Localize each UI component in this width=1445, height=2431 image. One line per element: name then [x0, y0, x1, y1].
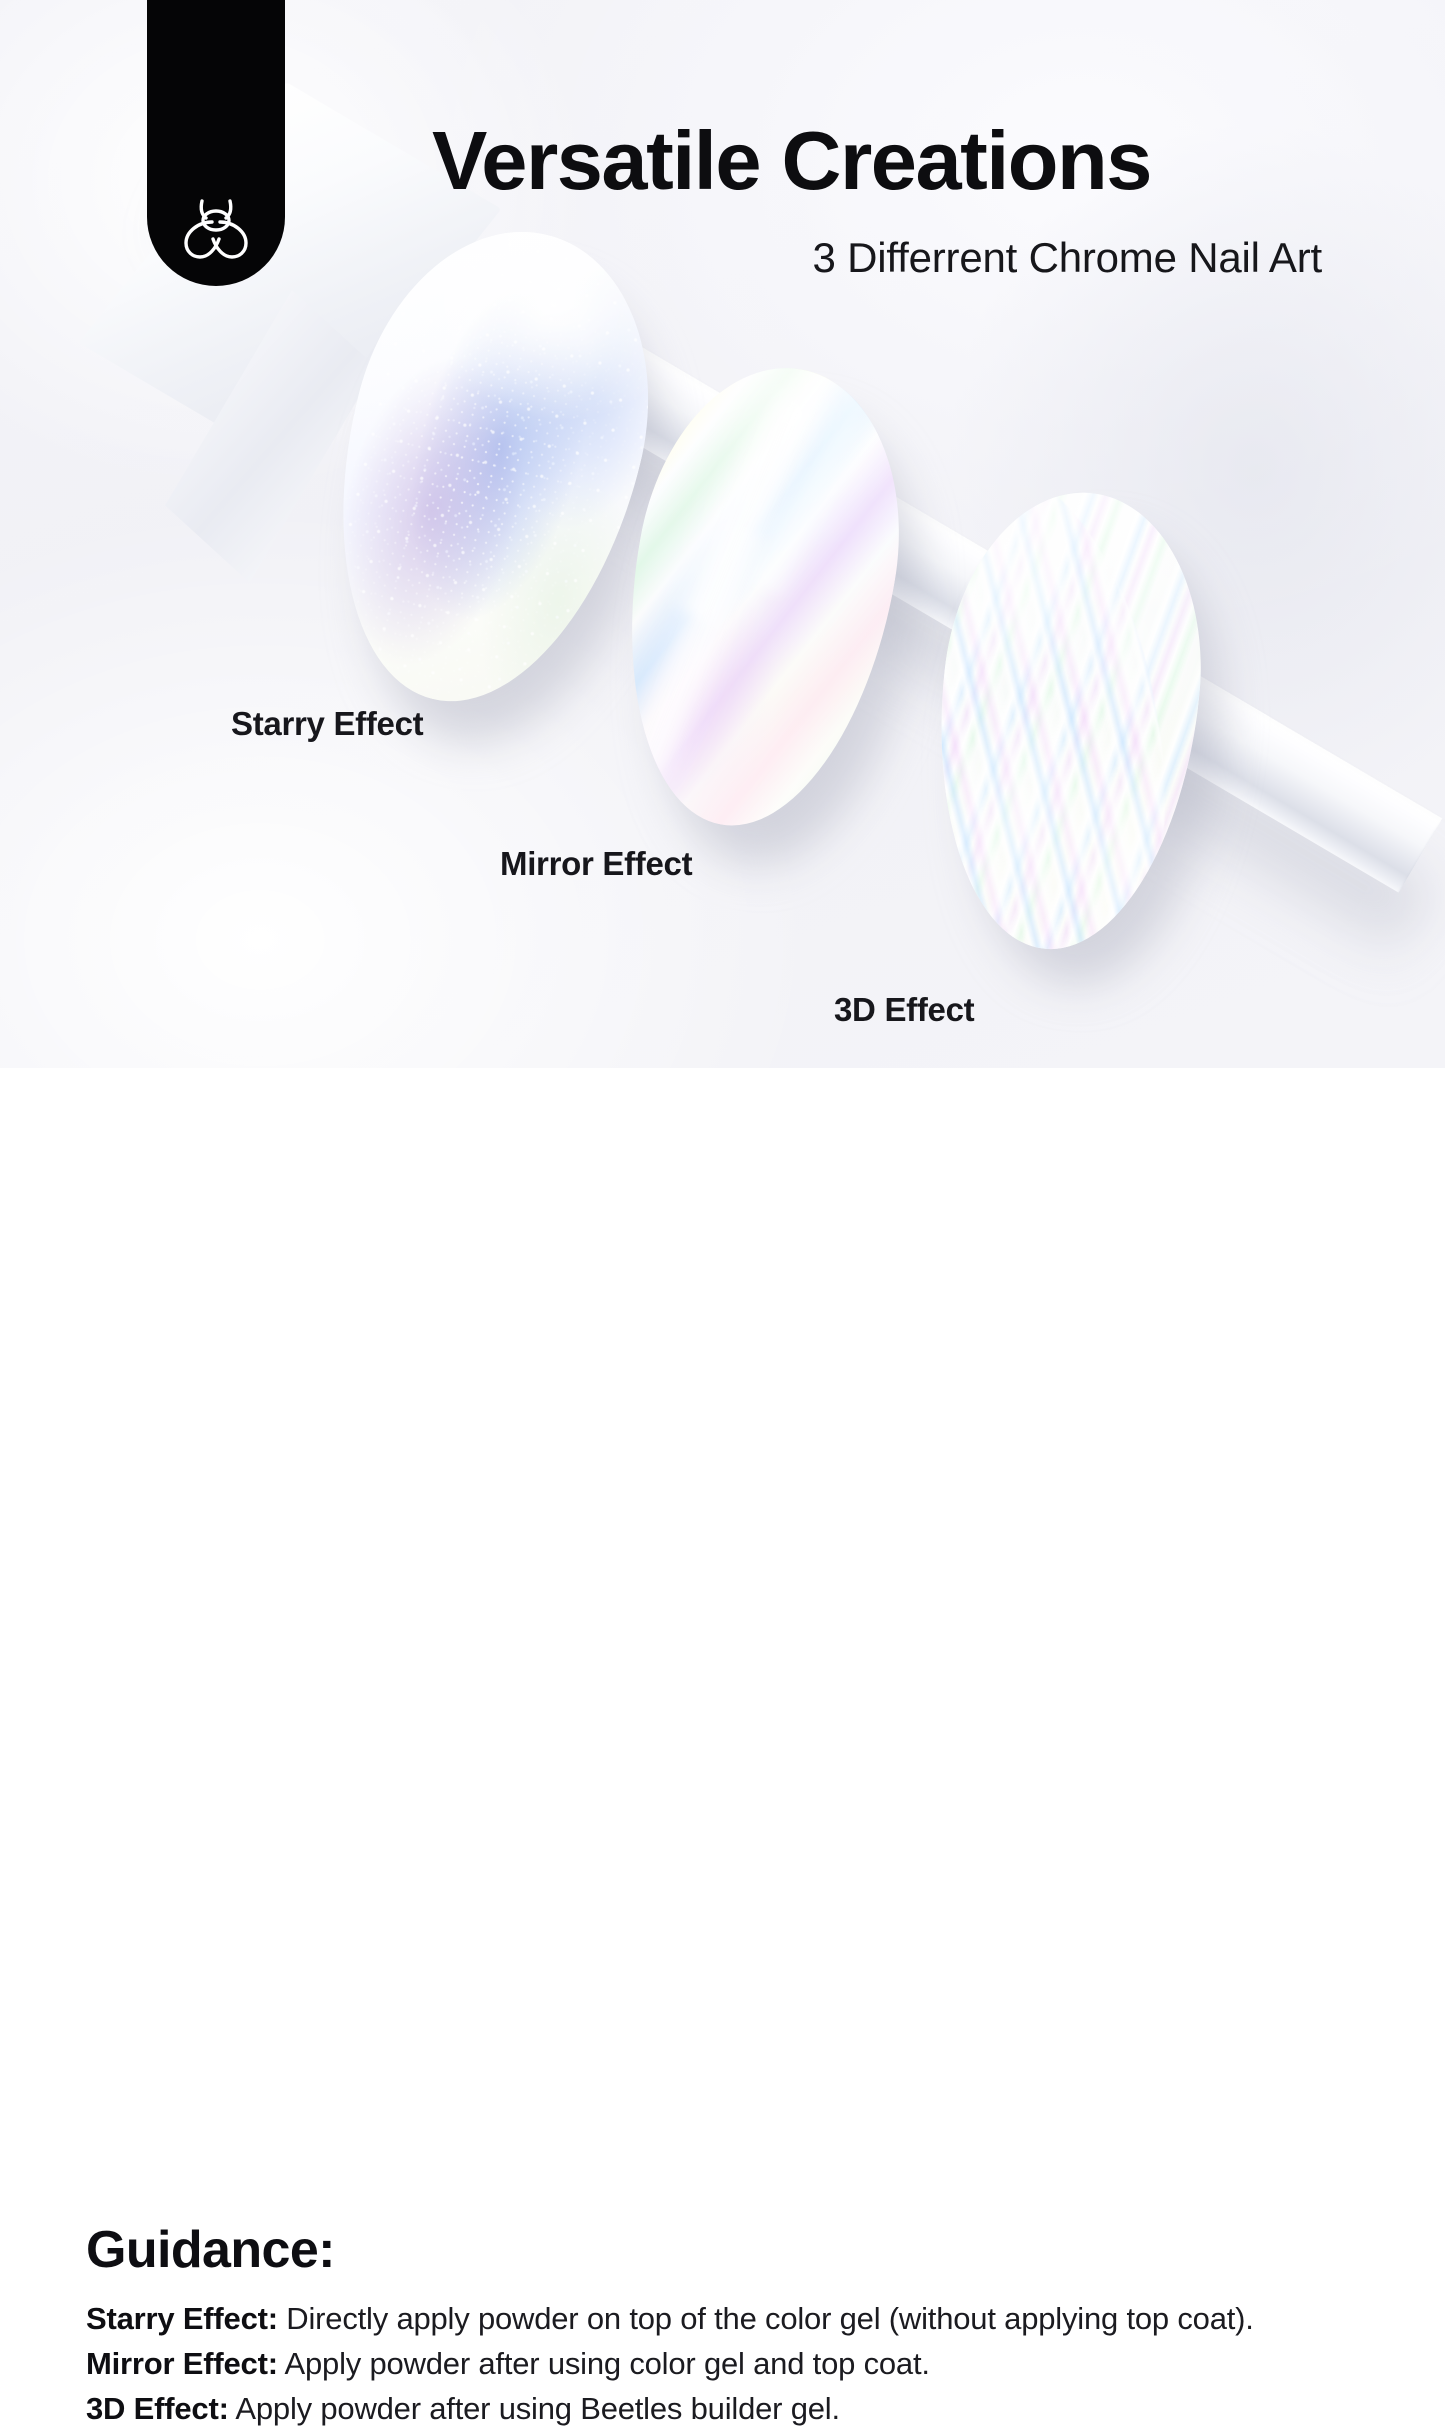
iridescent-band-blue	[739, 349, 900, 599]
guidance-term-3d: 3D Effect:	[86, 2391, 229, 2426]
label-3d-effect: 3D Effect	[834, 991, 974, 1029]
guidance-heading: Guidance:	[86, 2220, 335, 2280]
label-starry-effect: Starry Effect	[231, 705, 423, 743]
guidance-term-mirror: Mirror Effect:	[86, 2346, 278, 2381]
guidance-desc-3d: Apply powder after using Beetles builder…	[229, 2391, 840, 2426]
page-subtitle: 3 Differrent Chrome Nail Art	[432, 234, 1322, 282]
product-photo-panel: Versatile Creations 3 Differrent Chrome …	[0, 0, 1445, 1068]
guidance-desc-starry: Directly apply powder on top of the colo…	[278, 2301, 1254, 2336]
beetle-logo-icon	[178, 196, 254, 262]
guidance-row-3d: 3D Effect: Apply powder after using Beet…	[86, 2386, 1406, 2431]
brand-logo-tab	[147, 0, 285, 286]
page-title: Versatile Creations	[432, 118, 1322, 204]
guidance-list: Starry Effect: Directly apply powder on …	[86, 2296, 1406, 2431]
guidance-row-mirror: Mirror Effect: Apply powder after using …	[86, 2341, 1406, 2386]
guidance-desc-mirror: Apply powder after using color gel and t…	[278, 2346, 930, 2381]
guidance-panel: Guidance: Starry Effect: Directly apply …	[0, 1068, 1445, 1445]
label-mirror-effect: Mirror Effect	[500, 845, 692, 883]
guidance-term-starry: Starry Effect:	[86, 2301, 278, 2336]
nail-swatch-3d	[917, 480, 1219, 962]
guidance-row-starry: Starry Effect: Directly apply powder on …	[86, 2296, 1406, 2341]
